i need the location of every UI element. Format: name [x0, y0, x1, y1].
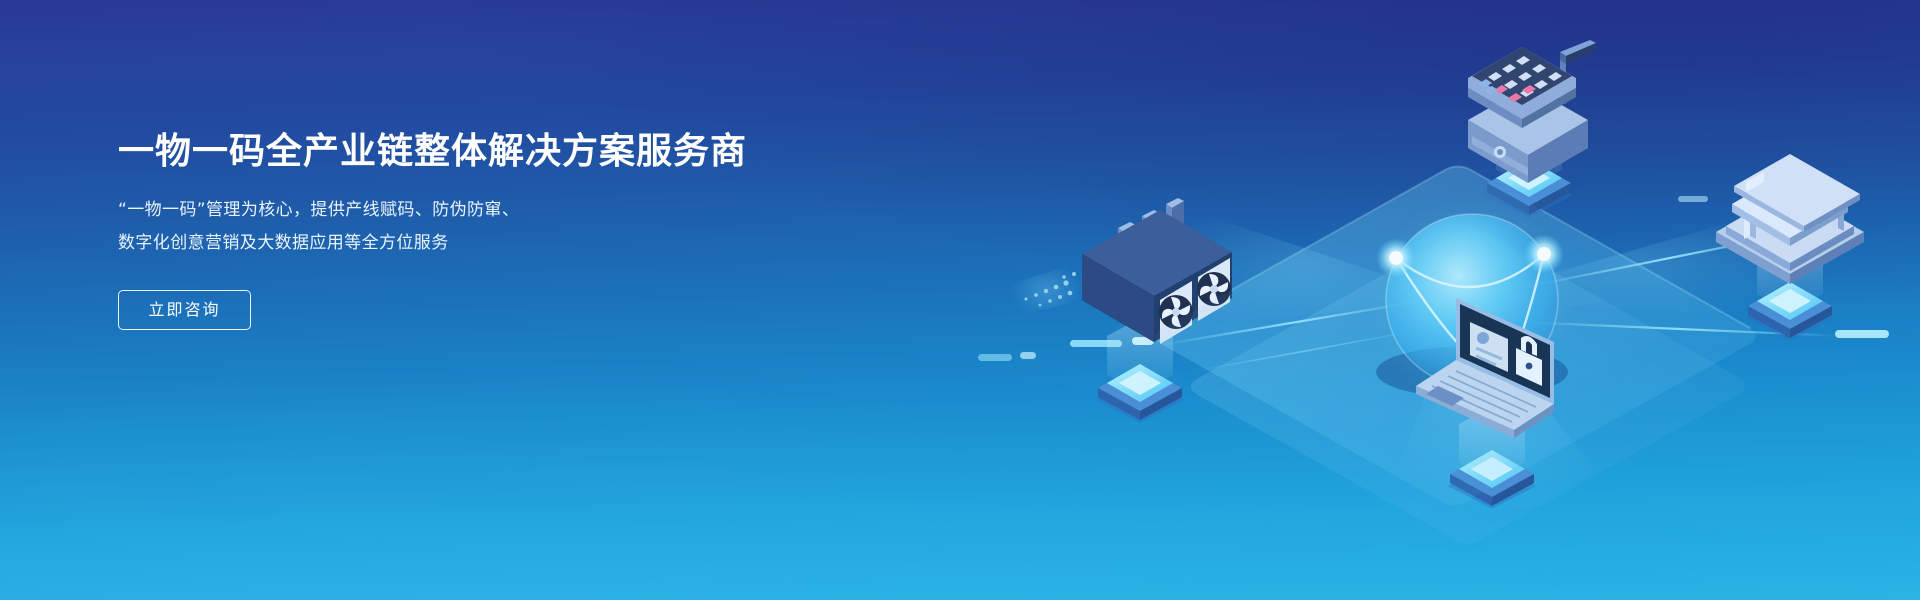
fan-right — [1197, 258, 1231, 321]
bank-building-icon — [1716, 154, 1864, 284]
bank-columns — [1744, 185, 1844, 239]
pedestal-cash-register — [1485, 113, 1573, 218]
page-title: 一物一码全产业链整体解决方案服务商 — [118, 131, 878, 173]
padlock-icon — [1516, 336, 1542, 386]
consult-now-button[interactable]: 立即咨询 — [118, 290, 251, 330]
plate-haze — [1155, 167, 1755, 506]
light-wedges — [1150, 200, 1820, 520]
hero-subtitle: “一物一码”管理为核心，提供产线赋码、防伪防窜、 数字化创意营销及大数据应用等全… — [118, 173, 878, 260]
cash-register-icon — [1468, 40, 1596, 183]
pedestal-laptop — [1448, 406, 1536, 509]
network-links — [1160, 228, 1840, 372]
network-sphere-icon — [1370, 198, 1574, 402]
data-pulses — [978, 196, 1889, 361]
fan-left — [1159, 281, 1193, 344]
laptop-lock-icon — [1416, 298, 1554, 438]
pedestal-bank — [1746, 236, 1834, 341]
isometric-illustration — [860, 0, 1920, 600]
subtitle-line-1: “一物一码”管理为核心，提供产线赋码、防伪防窜、 — [118, 194, 878, 227]
register-keys — [1478, 56, 1562, 102]
hero-banner: 一物一码全产业链整体解决方案服务商 “一物一码”管理为核心，提供产线赋码、防伪防… — [0, 0, 1920, 600]
pedestal-server — [1096, 318, 1184, 423]
subtitle-line-2: 数字化创意营销及大数据应用等全方位服务 — [118, 227, 878, 260]
sphere-nodes — [1376, 234, 1564, 400]
server-fans-icon — [1010, 198, 1232, 344]
platform-plates — [1155, 167, 1755, 544]
airflow-particles — [1010, 262, 1082, 318]
screen-profile-card — [1470, 322, 1508, 372]
hero-copy: 一物一码全产业链整体解决方案服务商 “一物一码”管理为核心，提供产线赋码、防伪防… — [118, 131, 878, 330]
